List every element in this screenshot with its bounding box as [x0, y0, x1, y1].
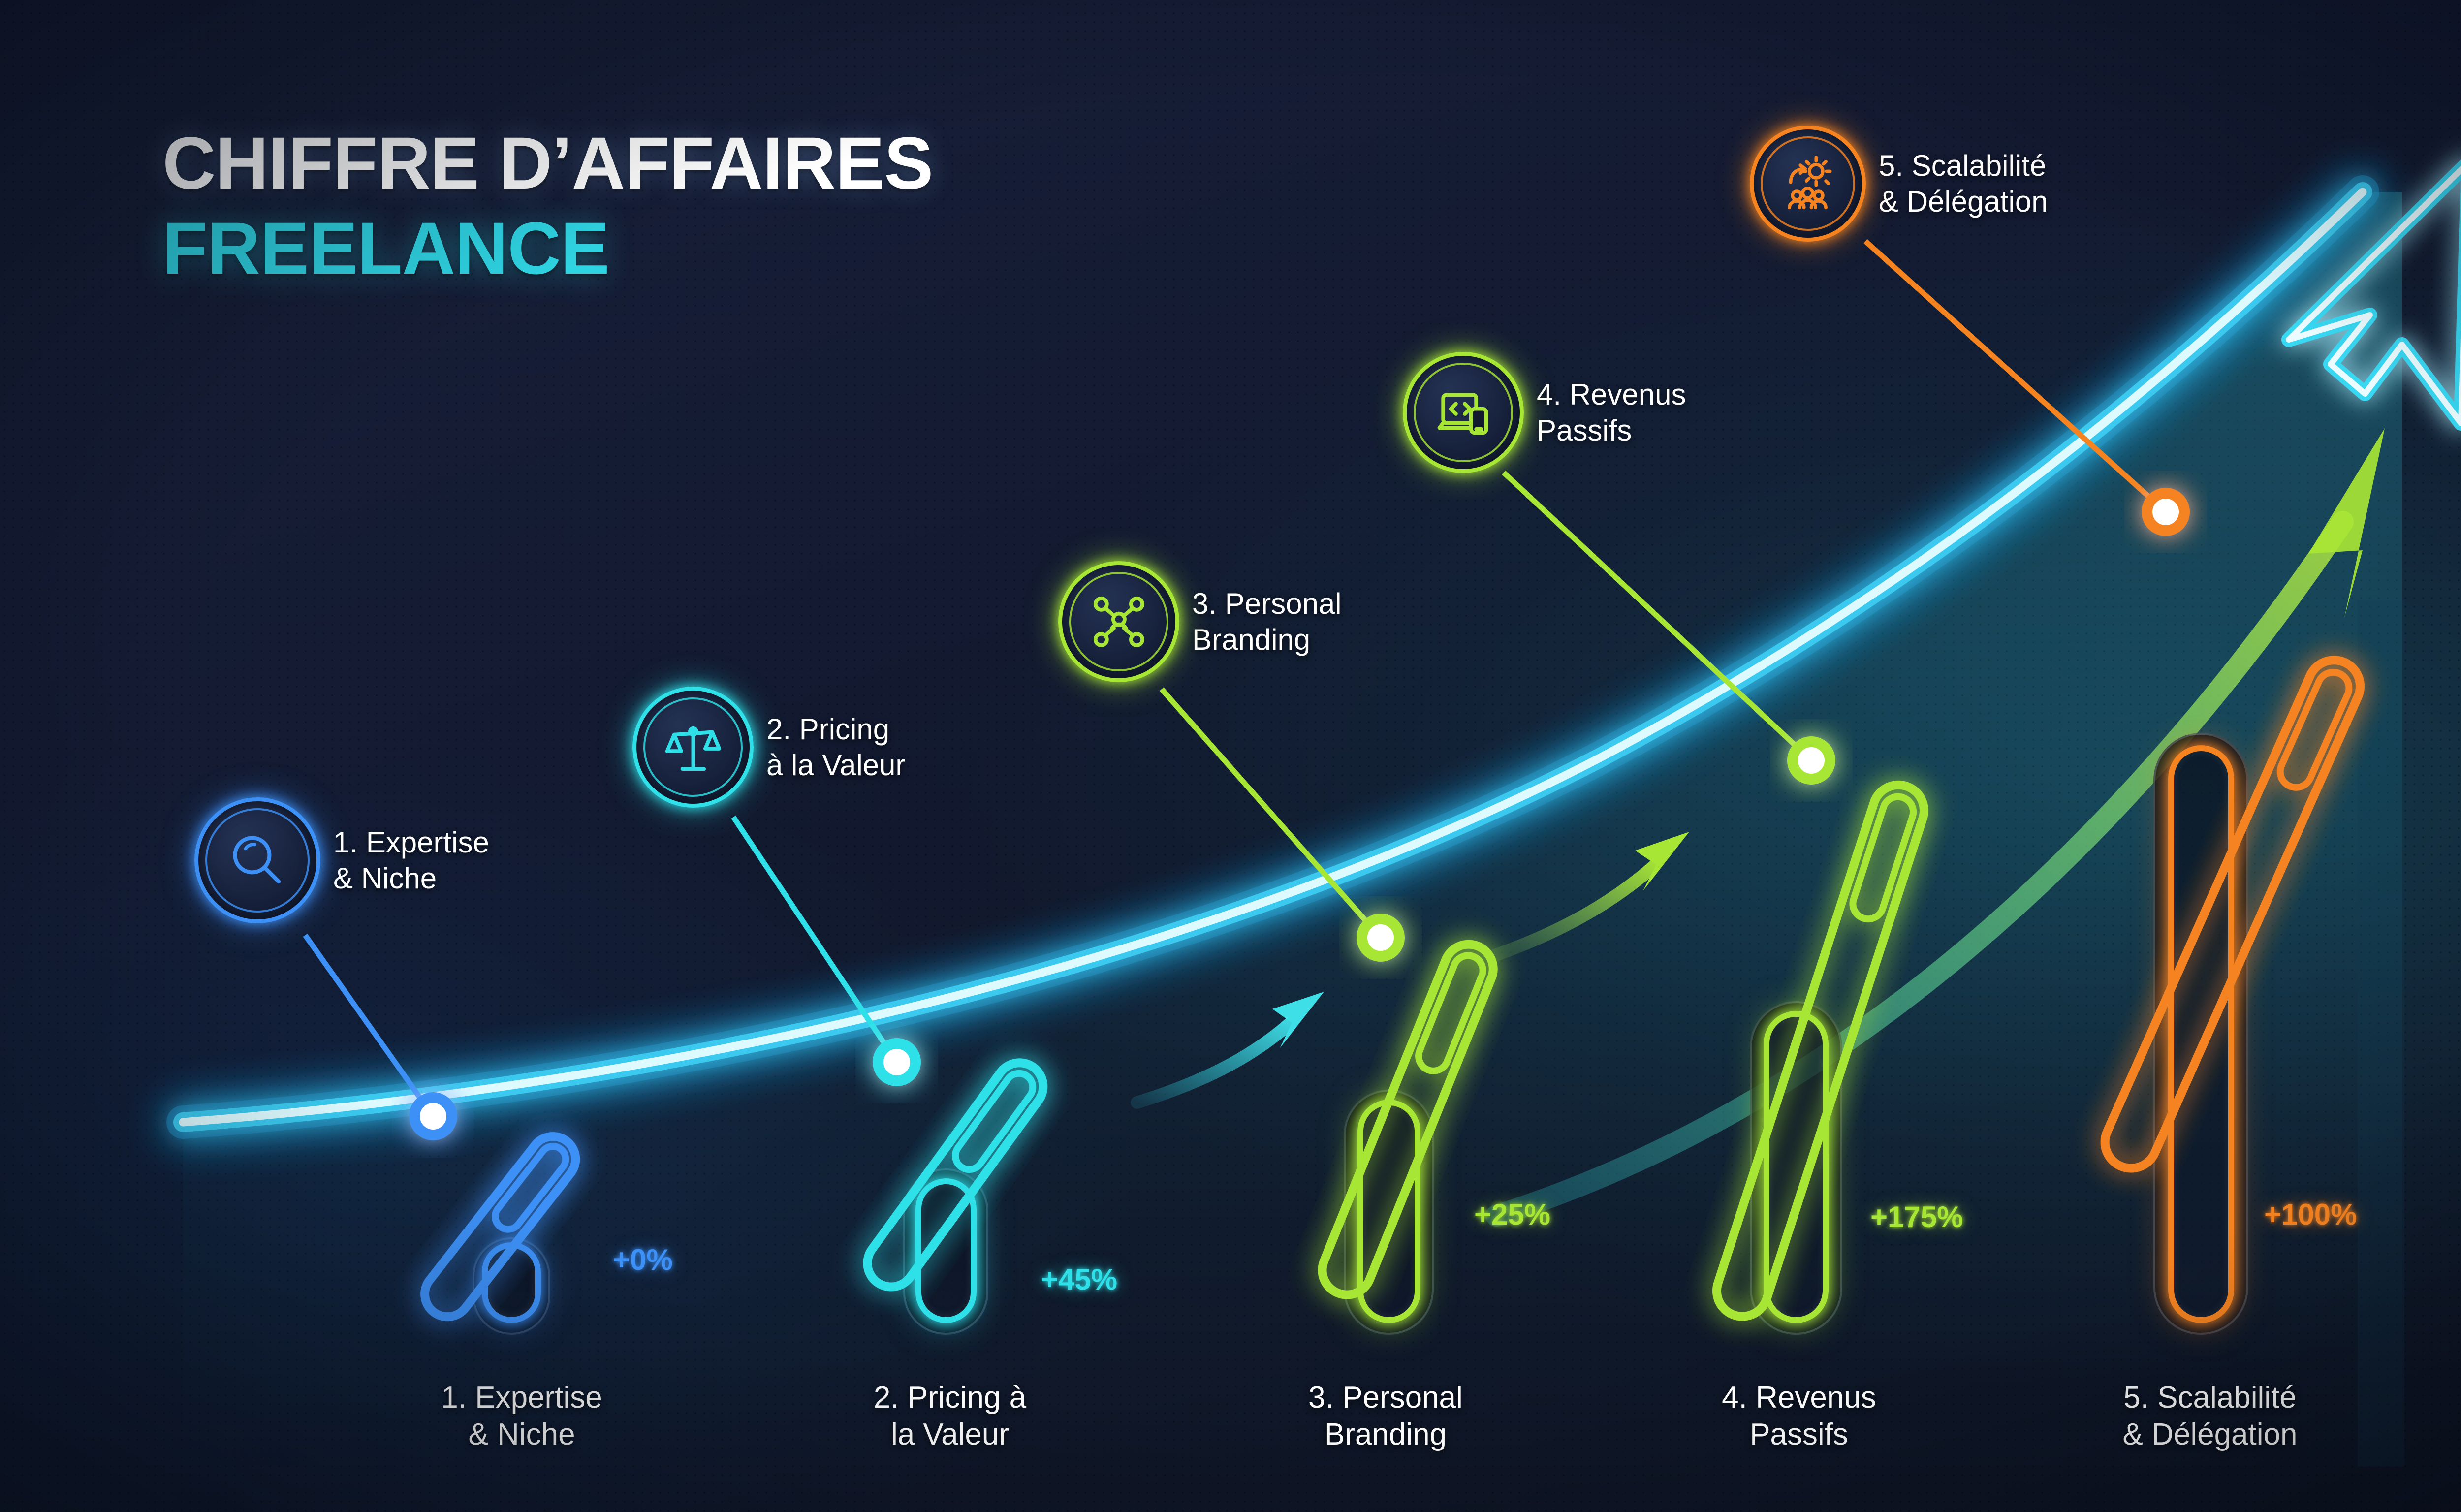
gear-team-icon — [1777, 153, 1838, 214]
laptop-code-icon — [1432, 381, 1495, 444]
network-person-icon — [1087, 590, 1151, 654]
bar-label-5: 5. Scalabilité & Délégation — [2013, 1380, 2407, 1453]
scales-icon — [662, 716, 725, 779]
infographic-canvas: CHIFFRE D’AFFAIRES FREELANCE 1. Expertis… — [0, 0, 2461, 1512]
bar-indicator-5 — [0, 0, 2461, 1512]
magnifier-icon — [224, 827, 290, 893]
bar-percent-5: +100% — [2264, 1197, 2357, 1231]
